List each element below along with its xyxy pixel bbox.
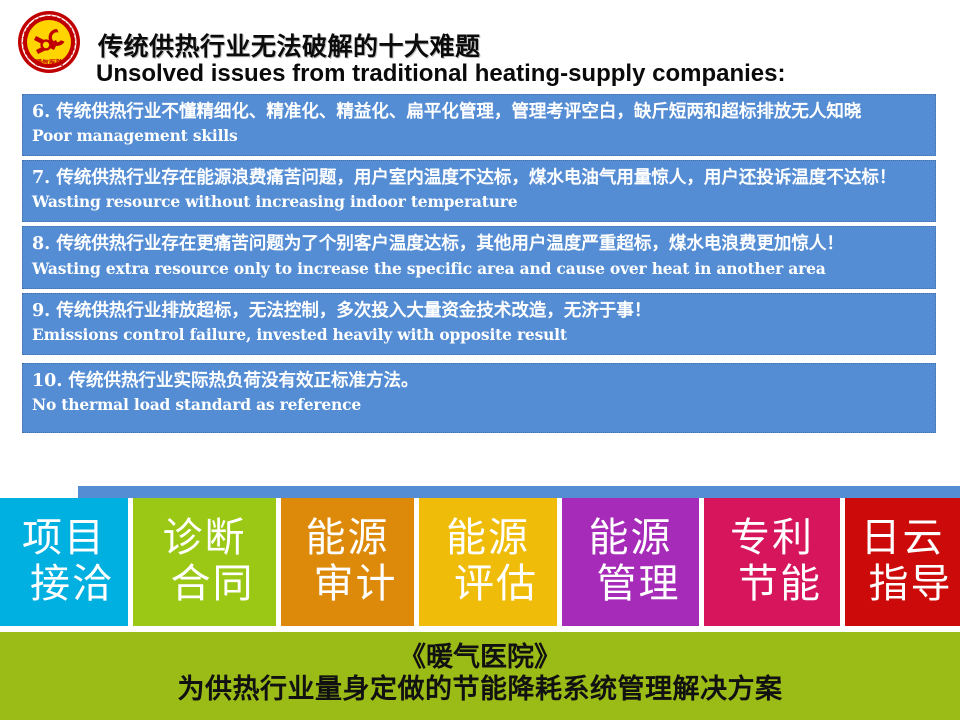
process-block-line2: 接洽 xyxy=(30,562,114,608)
issue-item: 8. 传统供热行业存在更痛苦问题为了个别客户温度达标，其他用户温度严重超标，煤水… xyxy=(22,226,936,288)
process-block-line1: 项目 xyxy=(22,516,106,562)
process-block-diagnosis-contract[interactable]: 诊断 合同 xyxy=(133,498,281,626)
process-block-line2: 指导 xyxy=(869,562,953,608)
process-block-line1: 诊断 xyxy=(163,516,247,562)
footer-brand-name: 《暖气医院》 xyxy=(399,642,561,674)
svg-text:P: P xyxy=(22,41,26,44)
page-title-chinese: 传统供热行业无法破解的十大难题 xyxy=(98,27,481,63)
issue-item: 6. 传统供热行业不懂精细化、精准化、精益化、扁平化管理，管理考评空白，缺斤短两… xyxy=(22,94,936,156)
issue-text-chinese: 8. 传统供热行业存在更痛苦问题为了个别客户温度达标，其他用户温度严重超标，煤水… xyxy=(32,233,926,256)
issue-text-chinese: 9. 传统供热行业排放超标，无法控制，多次投入大量资金技术改造，无济于事！ xyxy=(32,300,926,323)
accent-strip xyxy=(78,486,960,498)
process-block-line2: 合同 xyxy=(171,562,255,608)
page-title-english: Unsolved issues from traditional heating… xyxy=(96,60,785,88)
slide-root: H O S P I T A L O F H E A T I N G xyxy=(0,0,960,720)
process-block-daily-cloud-guidance[interactable]: 日云 指导 xyxy=(845,498,960,626)
issue-item: 7. 传统供热行业存在能源浪费痛苦问题，用户室内温度不达标，煤水电油气用量惊人，… xyxy=(22,160,936,222)
process-block-energy-management[interactable]: 能源 管理 xyxy=(562,498,704,626)
issue-text-english: Wasting resource without increasing indo… xyxy=(32,192,926,213)
issue-item: 10. 传统供热行业实际热负荷没有效正标准方法。 No thermal load… xyxy=(22,363,936,433)
issue-text-english: Poor management skills xyxy=(32,126,926,147)
issue-text-chinese: 7. 传统供热行业存在能源浪费痛苦问题，用户室内温度不达标，煤水电油气用量惊人，… xyxy=(32,167,926,190)
svg-text:暖气医院: 暖气医院 xyxy=(35,58,63,67)
process-block-line1: 能源 xyxy=(589,516,673,562)
process-block-line2: 节能 xyxy=(738,562,822,608)
process-block-line1: 能源 xyxy=(306,516,390,562)
svg-text:H: H xyxy=(45,15,48,19)
process-block-line2: 审计 xyxy=(314,562,398,608)
process-block-line1: 日云 xyxy=(861,516,945,562)
issue-text-english: Wasting extra resource only to increase … xyxy=(32,259,926,280)
process-block-line1: 专利 xyxy=(730,516,814,562)
process-block-energy-assessment[interactable]: 能源 评估 xyxy=(419,498,562,626)
process-block-line2: 评估 xyxy=(454,562,538,608)
hospital-of-heating-system-seal-icon: H O S P I T A L O F H E A T I N G xyxy=(16,9,82,75)
issue-text-english: No thermal load standard as reference xyxy=(32,395,926,416)
process-block-line1: 能源 xyxy=(446,516,530,562)
issue-text-chinese: 6. 传统供热行业不懂精细化、精准化、精益化、扁平化管理，管理考评空白，缺斤短两… xyxy=(32,101,926,124)
issue-text-english: Emissions control failure, invested heav… xyxy=(32,325,926,346)
process-block-line2: 管理 xyxy=(597,562,681,608)
issue-item: 9. 传统供热行业排放超标，无法控制，多次投入大量资金技术改造，无济于事！ Em… xyxy=(22,293,936,355)
process-blocks: 项目 接洽 诊断 合同 能源 审计 能源 评估 能源 管理 专利 节能 日云 指… xyxy=(0,498,960,626)
process-block-patent-energy-saving[interactable]: 专利 节能 xyxy=(704,498,845,626)
footer-tagline: 为供热行业量身定做的节能降耗系统管理解决方案 xyxy=(178,674,783,706)
slide-footer: 《暖气医院》 为供热行业量身定做的节能降耗系统管理解决方案 xyxy=(0,632,960,720)
process-block-energy-audit[interactable]: 能源 审计 xyxy=(281,498,419,626)
issue-text-chinese: 10. 传统供热行业实际热负荷没有效正标准方法。 xyxy=(32,370,926,393)
process-block-project-contact[interactable]: 项目 接洽 xyxy=(0,498,133,626)
issues-list: 6. 传统供热行业不懂精细化、精准化、精益化、扁平化管理，管理考评空白，缺斤短两… xyxy=(22,94,936,437)
slide-header: H O S P I T A L O F H E A T I N G xyxy=(0,0,960,90)
